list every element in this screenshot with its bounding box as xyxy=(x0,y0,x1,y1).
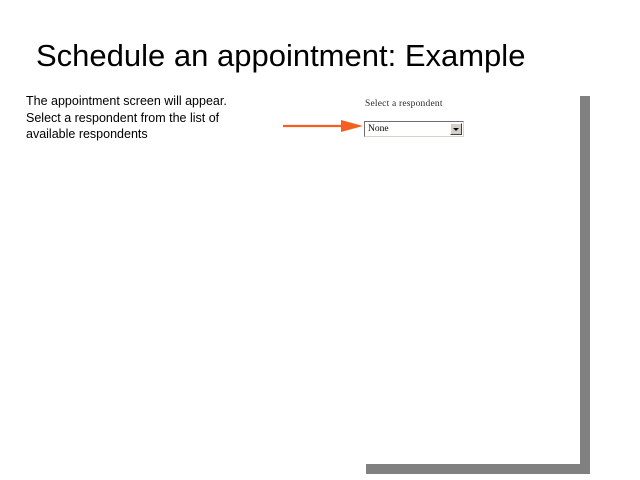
panel-shadow-right-edge xyxy=(580,96,590,465)
chevron-down-icon[interactable] xyxy=(450,123,462,135)
callout-arrow-icon xyxy=(283,119,365,133)
page-title: Schedule an appointment: Example xyxy=(36,37,616,75)
embedded-app-screenshot: Select a respondent None xyxy=(360,96,580,146)
respondent-select-label: Select a respondent xyxy=(365,99,443,109)
panel-shadow-bottom-edge xyxy=(366,464,590,474)
respondent-select[interactable]: None xyxy=(364,121,464,137)
slide-canvas: Schedule an appointment: Example The app… xyxy=(0,0,640,480)
slide-body-text: The appointment screen will appear. Sele… xyxy=(26,93,254,143)
respondent-select-value: None xyxy=(368,123,389,136)
